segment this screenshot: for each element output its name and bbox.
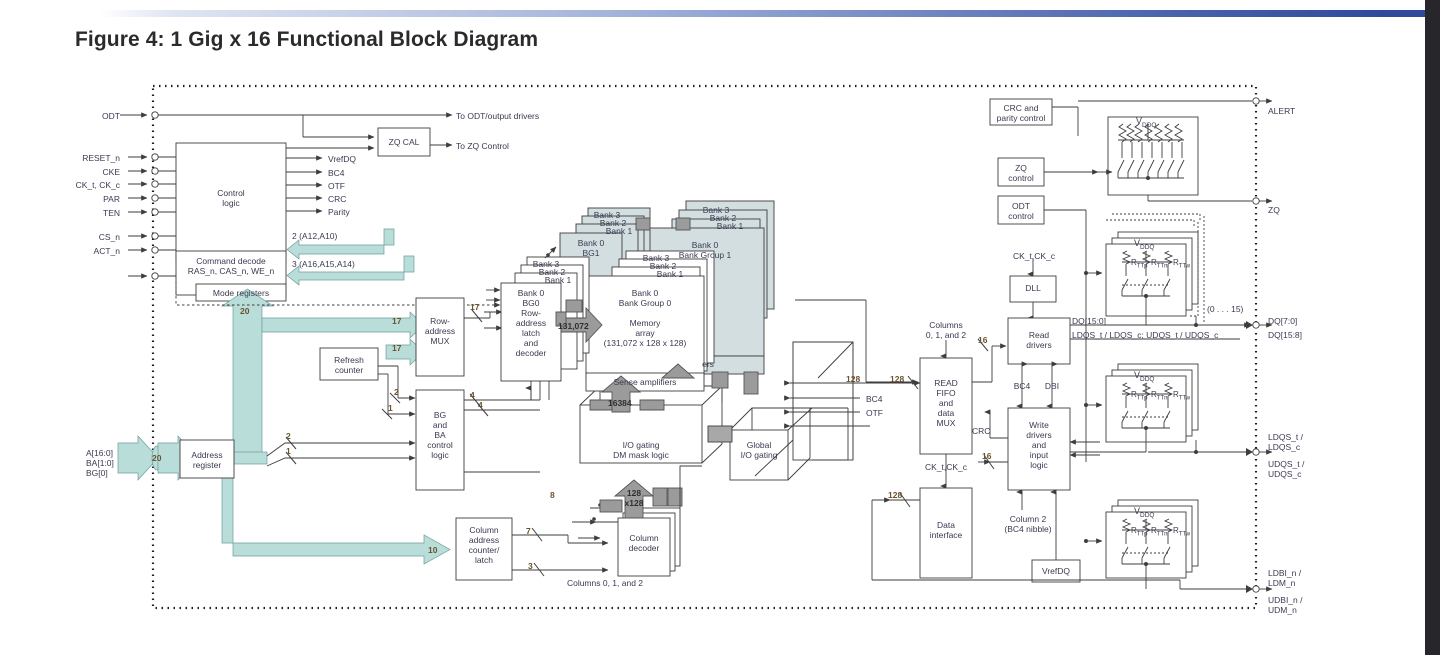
pin-label-ldm-n: LDM_n bbox=[1268, 578, 1295, 588]
pin-label-bg: BG[0] bbox=[86, 468, 108, 478]
bus-width-addr-1: 1 bbox=[286, 446, 291, 456]
label-rttn-c: RTTn bbox=[1151, 526, 1167, 539]
block-mode-registers: Mode registers bbox=[196, 288, 286, 298]
label-rttp-b: RTTp bbox=[1131, 390, 1147, 403]
label-rttw-c: RTTw bbox=[1173, 526, 1190, 539]
label-vddq-odt-c: VDDQ bbox=[1134, 506, 1154, 519]
label-vddq-odt-a: VDDQ bbox=[1134, 238, 1154, 251]
bus-width-col-to-decoder: 7 bbox=[526, 526, 531, 536]
bus-width-row-mux-out: 17 bbox=[470, 302, 479, 312]
pin-label-a: A[16:0] bbox=[86, 448, 113, 458]
annotation-columns-012-top: Columns 0, 1, and 2 bbox=[912, 320, 980, 340]
block-diagram: ODT RESET_n CKE CK_t, CK_c PAR TEN CS_n … bbox=[0, 0, 1440, 655]
block-bank-group-0: Bank 0 Bank Group 0 bbox=[586, 288, 704, 308]
pin-label-dq15-8: DQ[15:8] bbox=[1268, 330, 1302, 340]
block-row-address-mux: Row- address MUX bbox=[416, 316, 464, 346]
bus-width-col-out-3: 3 bbox=[528, 561, 533, 571]
label-rttw-a: RTTw bbox=[1173, 258, 1190, 271]
bank-label-1-bg0: Bank 1 bbox=[527, 275, 589, 285]
pin-label-udqs-c: UDQS_c bbox=[1268, 469, 1302, 479]
block-column-decoder: Column decoder bbox=[618, 533, 670, 553]
block-memory-array: Memory array (131,072 x 128 x 128) bbox=[586, 318, 704, 348]
bus-width-write-16: 16 bbox=[982, 451, 991, 461]
bus-width-global-128: 128 bbox=[846, 374, 860, 384]
block-read-drivers: Read drivers bbox=[1008, 330, 1070, 350]
pin-label-udbi-n: UDBI_n / bbox=[1268, 595, 1303, 605]
annotation-a12-a10: 2 (A12,A10) bbox=[292, 231, 337, 241]
pin-label-ten: TEN bbox=[58, 208, 120, 218]
control-output-crc: CRC bbox=[328, 194, 346, 204]
bus-width-sense-amp: 16384 bbox=[608, 398, 632, 408]
block-control-logic: Control logic bbox=[176, 188, 286, 208]
block-crc-parity-control: CRC and parity control bbox=[990, 103, 1052, 123]
block-global-io-gating: Global I/O gating bbox=[730, 440, 788, 460]
block-write-drivers: Write drivers and input logic bbox=[1008, 420, 1070, 470]
control-output-otf: OTF bbox=[328, 181, 345, 191]
pin-label-act-n: ACT_n bbox=[58, 246, 120, 256]
control-output-bc4: BC4 bbox=[328, 168, 345, 178]
bus-width-read-drivers-16: 16 bbox=[978, 335, 987, 345]
annotation-bc4-gating: BC4 bbox=[866, 394, 883, 404]
block-vrefdq: VrefDQ bbox=[1032, 566, 1080, 576]
annotation-crc: CRC bbox=[972, 426, 990, 436]
pin-label-reset-n: RESET_n bbox=[58, 153, 120, 163]
annotation-columns-012-bottom: Columns 0, 1, and 2 bbox=[540, 578, 670, 588]
control-output-parity: Parity bbox=[328, 207, 350, 217]
label-rttn-a: RTTn bbox=[1151, 258, 1167, 271]
pin-label-par: PAR bbox=[58, 194, 120, 204]
label-vddq-zq: VDDQ bbox=[1136, 116, 1156, 129]
label-vddq-odt-b: VDDQ bbox=[1134, 370, 1154, 383]
block-row-address-latch-decoder: Bank 0 BG0 Row- address latch and decode… bbox=[501, 288, 561, 358]
pin-label-zq: ZQ bbox=[1268, 205, 1280, 215]
annotation-bc4: BC4 bbox=[1008, 381, 1036, 391]
bus-width-addr-2: 2 bbox=[286, 431, 291, 441]
label-rttp-a: RTTp bbox=[1131, 258, 1147, 271]
bank-label-0-bg1: Bank 0 bbox=[560, 238, 622, 248]
pin-label-ldbi-n: LDBI_n / bbox=[1268, 568, 1301, 578]
pin-label-ldqs-t: LDQS_t / bbox=[1268, 432, 1303, 442]
bus-width-bg-in-1: 1 bbox=[388, 403, 393, 413]
bus-width-bg-out-4b: 4 bbox=[478, 400, 483, 410]
label-rttw-b: RTTw bbox=[1173, 390, 1190, 403]
pin-label-dq7-0: DQ[7:0] bbox=[1268, 316, 1297, 326]
control-output-vrefdq: VrefDQ bbox=[328, 154, 356, 164]
block-bg-ba-control-logic: BG and BA control logic bbox=[416, 410, 464, 460]
annotation-to-zq-control: To ZQ Control bbox=[456, 141, 509, 151]
annotation-dq15-0: DQ[15:0] bbox=[1072, 316, 1106, 326]
bus-width-io-8: 8 bbox=[550, 490, 555, 500]
block-address-register: Address register bbox=[180, 450, 234, 470]
bank-label-1-array-bg1: Bank 1 bbox=[686, 221, 774, 231]
pin-label-udqs-t: UDQS_t / bbox=[1268, 459, 1304, 469]
block-data-interface: Data interface bbox=[920, 520, 972, 540]
bus-width-mode-registers: 20 bbox=[240, 306, 249, 316]
pin-label-ldqs-c: LDQS_c bbox=[1268, 442, 1300, 452]
bus-width-column-counter-10: 10 bbox=[428, 545, 437, 555]
annotation-otf-gating: OTF bbox=[866, 408, 883, 418]
pin-label-ba: BA[1:0] bbox=[86, 458, 114, 468]
diagram-svg bbox=[0, 0, 1440, 655]
block-zq-cal: ZQ CAL bbox=[378, 137, 430, 147]
bus-width-bg-in-2: 2 bbox=[394, 387, 399, 397]
pin-label-cke: CKE bbox=[58, 167, 120, 177]
annotation-ck-dll: CK_t,CK_c bbox=[1003, 251, 1065, 261]
bus-width-read-fifo-128: 128 bbox=[890, 374, 904, 384]
bank-label-1-bg1: Bank 1 bbox=[588, 226, 650, 236]
annotation-column2-bc4-nibble: Column 2 (BC4 nibble) bbox=[990, 514, 1066, 534]
block-io-gating: I/O gating DM mask logic bbox=[580, 440, 702, 460]
bus-width-row-latch: 131,072 bbox=[558, 321, 589, 331]
block-read-fifo: READ FIFO and data MUX bbox=[920, 378, 972, 428]
pin-label-alert: ALERT bbox=[1268, 106, 1295, 116]
bus-width-data-interface-128: 128 bbox=[888, 490, 902, 500]
bus-width-row-mux-in: 17 bbox=[392, 316, 401, 326]
pin-label-udm-n: UDM_n bbox=[1268, 605, 1297, 615]
bus-width-bg-out-4a: 4 bbox=[470, 390, 475, 400]
annotation-ck-fifo: CK_t,CK_c bbox=[915, 462, 977, 472]
annotation-a16-a15-a14: 3 (A16,A15,A14) bbox=[292, 259, 355, 269]
block-refresh-counter: Refresh counter bbox=[320, 355, 378, 375]
bus-width-io-128x128-lower: 128 x128 bbox=[618, 488, 650, 508]
annotation-odt-range: (0 . . . 15) bbox=[1207, 304, 1243, 314]
block-column-address-counter-latch: Column address counter/ latch bbox=[456, 525, 512, 565]
pin-label-ck: CK_t, CK_c bbox=[40, 180, 120, 190]
annotation-dbi: DBI bbox=[1038, 381, 1066, 391]
label-rttn-b: RTTn bbox=[1151, 390, 1167, 403]
block-zq-control: ZQ control bbox=[998, 163, 1044, 183]
pin-label-odt: ODT bbox=[58, 111, 120, 121]
block-sense-amplifiers-bg1: ers bbox=[693, 359, 723, 369]
bus-width-refresh-to-mux: 17 bbox=[392, 343, 401, 353]
annotation-to-odt-output-drivers: To ODT/output drivers bbox=[456, 111, 539, 121]
bank-label-1-array-bg0: Bank 1 bbox=[626, 269, 714, 279]
block-odt-control: ODT control bbox=[998, 201, 1044, 221]
annotation-dqs-group: LDQS_t / LDQS_c; UDQS_t / UDQS_c bbox=[1072, 330, 1218, 340]
bus-width-address-register: 20 bbox=[152, 453, 161, 463]
pin-label-cs-n: CS_n bbox=[58, 232, 120, 242]
block-dll: DLL bbox=[1010, 283, 1056, 293]
block-command-decode: Command decode RAS_n, CAS_n, WE_n bbox=[172, 256, 290, 276]
label-rttp-c: RTTp bbox=[1131, 526, 1147, 539]
